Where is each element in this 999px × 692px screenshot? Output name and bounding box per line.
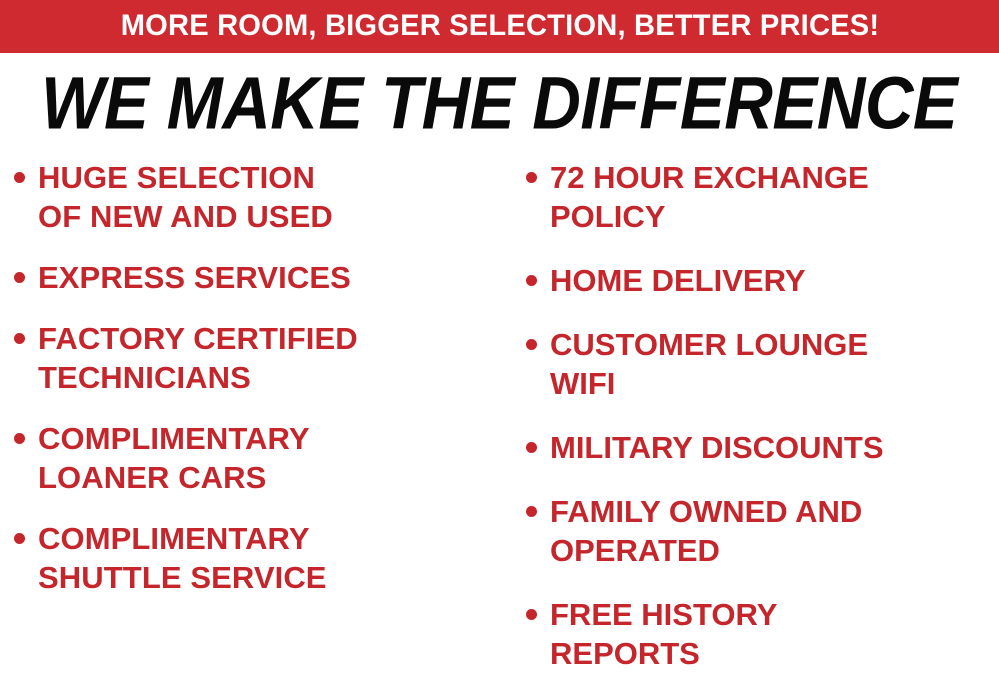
features-columns: HUGE SELECTION OF NEW AND USED EXPRESS S… [0,158,999,692]
feature-label: 72 HOUR EXCHANGE POLICY [550,158,999,236]
feature-item: COMPLIMENTARY SHUTTLE SERVICE [14,519,512,597]
feature-item: FACTORY CERTIFIED TECHNICIANS [14,319,512,397]
bullet-dot-icon [14,533,25,544]
feature-item: EXPRESS SERVICES [14,258,512,297]
bullet-dot-icon [526,609,537,620]
bullet-dot-icon [14,333,25,344]
features-left-column: HUGE SELECTION OF NEW AND USED EXPRESS S… [0,158,512,692]
promo-banner: MORE ROOM, BIGGER SELECTION, BETTER PRIC… [0,0,999,53]
headline-text: WE MAKE THE DIFFERENCE [41,66,957,140]
feature-item: COMPLIMENTARY LOANER CARS [14,419,512,497]
feature-label: CUSTOMER LOUNGE WIFI [550,325,999,403]
bullet-dot-icon [526,172,537,183]
features-right-column: 72 HOUR EXCHANGE POLICY HOME DELIVERY CU… [512,158,999,692]
feature-item: FREE HISTORY REPORTS [526,595,999,673]
feature-label: EXPRESS SERVICES [38,258,512,297]
bullet-dot-icon [14,272,25,283]
headline: WE MAKE THE DIFFERENCE [0,66,999,132]
bullet-dot-icon [526,339,537,350]
bullet-dot-icon [526,275,537,286]
feature-label: COMPLIMENTARY SHUTTLE SERVICE [38,519,512,597]
feature-item: CUSTOMER LOUNGE WIFI [526,325,999,403]
bullet-dot-icon [526,442,537,453]
feature-item: HOME DELIVERY [526,261,999,300]
promo-banner-text: MORE ROOM, BIGGER SELECTION, BETTER PRIC… [120,11,879,43]
feature-item: HUGE SELECTION OF NEW AND USED [14,158,512,236]
feature-label: FREE HISTORY REPORTS [550,595,999,673]
feature-label: MILITARY DISCOUNTS [550,428,999,467]
feature-label: COMPLIMENTARY LOANER CARS [38,419,512,497]
bullet-dot-icon [526,506,537,517]
feature-label: HOME DELIVERY [550,261,999,300]
feature-label: FACTORY CERTIFIED TECHNICIANS [38,319,512,397]
advertisement-banner: MORE ROOM, BIGGER SELECTION, BETTER PRIC… [0,0,999,692]
feature-item: 72 HOUR EXCHANGE POLICY [526,158,999,236]
feature-item: MILITARY DISCOUNTS [526,428,999,467]
feature-item: FAMILY OWNED AND OPERATED [526,492,999,570]
feature-label: FAMILY OWNED AND OPERATED [550,492,999,570]
feature-label: HUGE SELECTION OF NEW AND USED [38,158,512,236]
bullet-dot-icon [14,433,25,444]
bullet-dot-icon [14,172,25,183]
